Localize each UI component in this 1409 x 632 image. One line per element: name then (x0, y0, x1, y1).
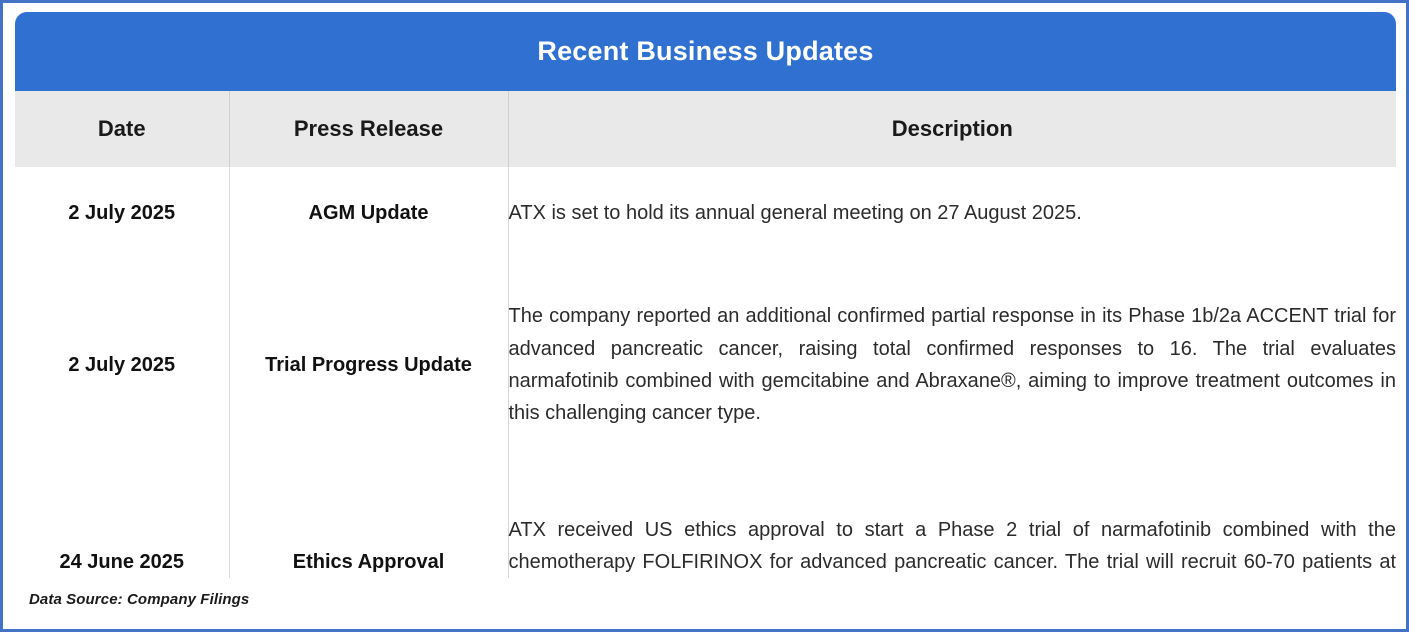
page-title: Recent Business Updates (537, 36, 873, 67)
updates-table-container: Date Press Release Description 2 July 20… (15, 91, 1396, 578)
table-row: 2 July 2025 Trial Progress Update The co… (15, 259, 1396, 471)
cell-date: 24 June 2025 (15, 471, 229, 578)
table-header: Date Press Release Description (15, 91, 1396, 167)
column-header-press-release: Press Release (229, 91, 508, 167)
column-header-description: Description (508, 91, 1396, 167)
cell-press-release: Trial Progress Update (229, 259, 508, 471)
updates-card: Recent Business Updates Date Press Relea… (15, 12, 1396, 621)
cell-date: 2 July 2025 (15, 259, 229, 471)
cell-description: The company reported an additional confi… (508, 259, 1396, 471)
card-footer: Data Source: Company Filings (15, 578, 1396, 621)
table-row: 2 July 2025 AGM Update ATX is set to hol… (15, 167, 1396, 259)
table-row: 24 June 2025 Ethics Approval ATX receive… (15, 471, 1396, 578)
table-header-row: Date Press Release Description (15, 91, 1396, 167)
cell-press-release: AGM Update (229, 167, 508, 259)
card-title-bar: Recent Business Updates (15, 12, 1396, 91)
cell-date: 2 July 2025 (15, 167, 229, 259)
table-body: 2 July 2025 AGM Update ATX is set to hol… (15, 167, 1396, 578)
cell-press-release: Ethics Approval (229, 471, 508, 578)
slide-frame: Recent Business Updates Date Press Relea… (0, 0, 1409, 632)
column-header-date: Date (15, 91, 229, 167)
data-source-note: Data Source: Company Filings (15, 591, 249, 608)
cell-description: ATX received US ethics approval to start… (508, 471, 1396, 578)
cell-description: ATX is set to hold its annual general me… (508, 167, 1396, 259)
updates-table: Date Press Release Description 2 July 20… (15, 91, 1396, 578)
